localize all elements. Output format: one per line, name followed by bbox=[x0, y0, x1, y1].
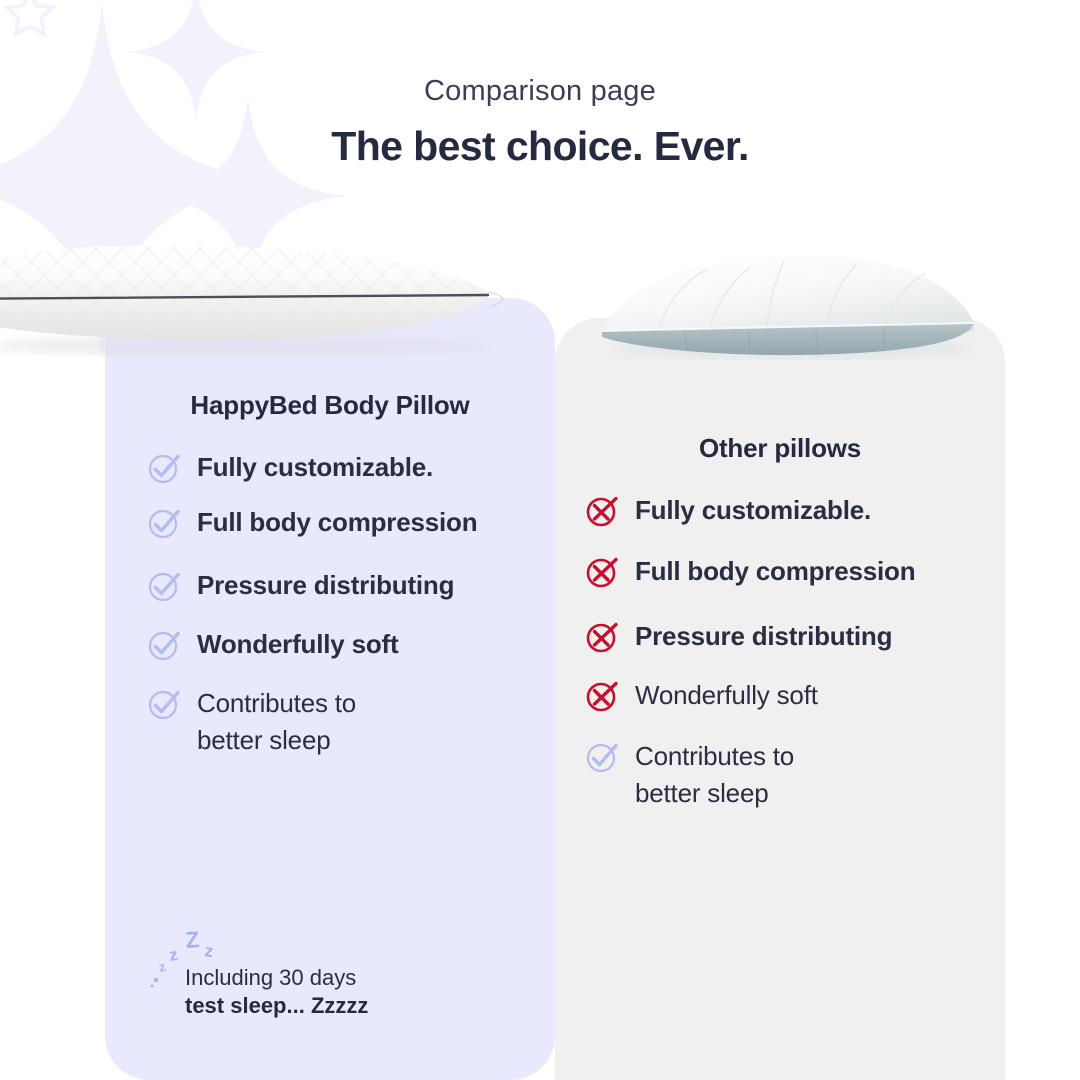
list-item: Contributes to better sleep bbox=[585, 738, 987, 812]
list-item: Fully customizable. bbox=[147, 449, 535, 486]
svg-text:z: z bbox=[168, 945, 179, 965]
check-icon bbox=[147, 451, 181, 485]
check-icon bbox=[147, 628, 181, 662]
list-item-label: Contributes to better sleep bbox=[635, 738, 855, 812]
page-eyebrow: Comparison page bbox=[0, 76, 1080, 108]
list-item: Pressure distributing bbox=[585, 618, 987, 655]
happybed-feature-list: Fully customizable. Full body compressio… bbox=[105, 449, 555, 758]
comparison-page: Comparison page The best choice. Ever. bbox=[0, 0, 1080, 1080]
check-icon bbox=[147, 506, 181, 540]
svg-text:z: z bbox=[157, 959, 167, 975]
list-item-label: Wonderfully soft bbox=[197, 626, 398, 663]
happybed-panel: HappyBed Body Pillow Fully customizable. bbox=[105, 298, 555, 776]
other-pillows-panel: Other pillows Fully customizable. bbox=[555, 318, 1005, 829]
list-item-label: Fully customizable. bbox=[635, 492, 871, 529]
star-outline-corner-icon bbox=[2, 0, 58, 47]
list-item-label: Contributes to better sleep bbox=[197, 685, 417, 759]
list-item: Fully customizable. bbox=[585, 492, 987, 529]
list-item: Wonderfully soft bbox=[147, 626, 535, 663]
list-item-label: Full body compression bbox=[635, 553, 915, 590]
cross-icon bbox=[585, 555, 619, 589]
svg-text:Z: Z bbox=[185, 928, 201, 953]
list-item-label: Pressure distributing bbox=[635, 618, 892, 655]
check-icon bbox=[585, 740, 619, 774]
trial-footnote: z Z z z Including 30 days test sleep... … bbox=[185, 964, 485, 1019]
list-item-label: Pressure distributing bbox=[197, 567, 454, 604]
list-item: Wonderfully soft bbox=[585, 677, 987, 714]
list-item-label: Fully customizable. bbox=[197, 449, 433, 486]
svg-text:z: z bbox=[203, 941, 214, 961]
check-icon bbox=[147, 569, 181, 603]
zzz-sleep-icon: z Z z z bbox=[150, 928, 240, 1003]
check-icon bbox=[147, 687, 181, 721]
page-header: Comparison page The best choice. Ever. bbox=[0, 76, 1080, 170]
list-item: Pressure distributing bbox=[147, 567, 535, 604]
cross-icon bbox=[585, 620, 619, 654]
list-item-label: Full body compression bbox=[197, 504, 477, 541]
other-pillows-panel-title: Other pillows bbox=[555, 433, 1005, 464]
list-item-label: Wonderfully soft bbox=[635, 677, 818, 714]
other-pillows-feature-list: Fully customizable. Full body compressio… bbox=[555, 492, 1005, 811]
list-item: Contributes to better sleep bbox=[147, 685, 535, 759]
list-item: Full body compression bbox=[147, 504, 535, 541]
cross-icon bbox=[585, 679, 619, 713]
cross-icon bbox=[585, 494, 619, 528]
list-item: Full body compression bbox=[585, 553, 987, 590]
page-title: The best choice. Ever. bbox=[0, 123, 1080, 170]
happybed-panel-title: HappyBed Body Pillow bbox=[105, 390, 555, 421]
